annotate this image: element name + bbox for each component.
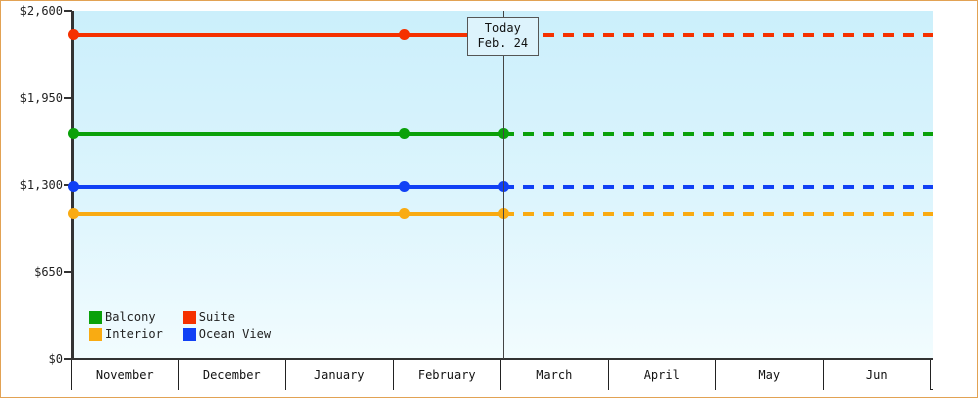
legend-swatch-icon — [89, 311, 102, 324]
legend-item-ocean-view[interactable]: Ocean View — [183, 327, 271, 341]
series-line-solid — [73, 33, 503, 37]
month-cell[interactable]: May — [716, 360, 824, 390]
legend-swatch-icon — [183, 328, 196, 341]
month-cell[interactable]: January — [286, 360, 394, 390]
legend-label: Balcony — [105, 310, 156, 324]
series-line-forecast-dashed — [503, 185, 933, 189]
y-axis-tick — [64, 271, 72, 273]
today-vertical-line — [503, 11, 504, 359]
month-cell[interactable]: December — [179, 360, 287, 390]
series-line-forecast-dashed — [503, 33, 933, 37]
series-line-solid — [73, 212, 503, 216]
legend-item-balcony[interactable]: Balcony — [89, 310, 163, 324]
today-label-line2: Feb. 24 — [478, 36, 529, 51]
y-axis-label: $1,950 — [3, 91, 63, 105]
series-line-solid — [73, 185, 503, 189]
legend-swatch-icon — [89, 328, 102, 341]
month-cell[interactable]: April — [609, 360, 717, 390]
series-data-point[interactable] — [68, 29, 79, 40]
legend-label: Interior — [105, 327, 163, 341]
series-data-point[interactable] — [399, 208, 410, 219]
month-cell[interactable]: November — [71, 360, 179, 390]
legend-label: Suite — [199, 310, 235, 324]
legend-swatch-icon — [183, 311, 196, 324]
y-axis-tick — [64, 10, 72, 12]
series-line-forecast-dashed — [503, 212, 933, 216]
y-axis-label: $1,300 — [3, 178, 63, 192]
y-axis-tick — [64, 97, 72, 99]
y-axis-label: $0 — [3, 352, 63, 366]
series-line-forecast-dashed — [503, 132, 933, 136]
x-axis-month-row: NovemberDecemberJanuaryFebruaryMarchApri… — [71, 360, 933, 390]
month-cell[interactable]: March — [501, 360, 609, 390]
y-axis-label: $2,600 — [3, 4, 63, 18]
month-cell[interactable]: Jun — [824, 360, 932, 390]
today-label-line1: Today — [478, 21, 529, 36]
legend-item-interior[interactable]: Interior — [89, 327, 163, 341]
price-trend-chart: $2,600$1,950$1,300$650$0 TodayFeb. 24 Ba… — [0, 0, 978, 398]
legend-label: Ocean View — [199, 327, 271, 341]
series-data-point[interactable] — [68, 208, 79, 219]
legend-item-suite[interactable]: Suite — [183, 310, 271, 324]
series-data-point[interactable] — [68, 181, 79, 192]
y-axis-label: $650 — [3, 265, 63, 279]
chart-legend: BalconySuiteInteriorOcean View — [89, 310, 271, 341]
series-line-solid — [73, 132, 503, 136]
today-label-box: TodayFeb. 24 — [467, 17, 540, 56]
month-cell[interactable]: February — [394, 360, 502, 390]
